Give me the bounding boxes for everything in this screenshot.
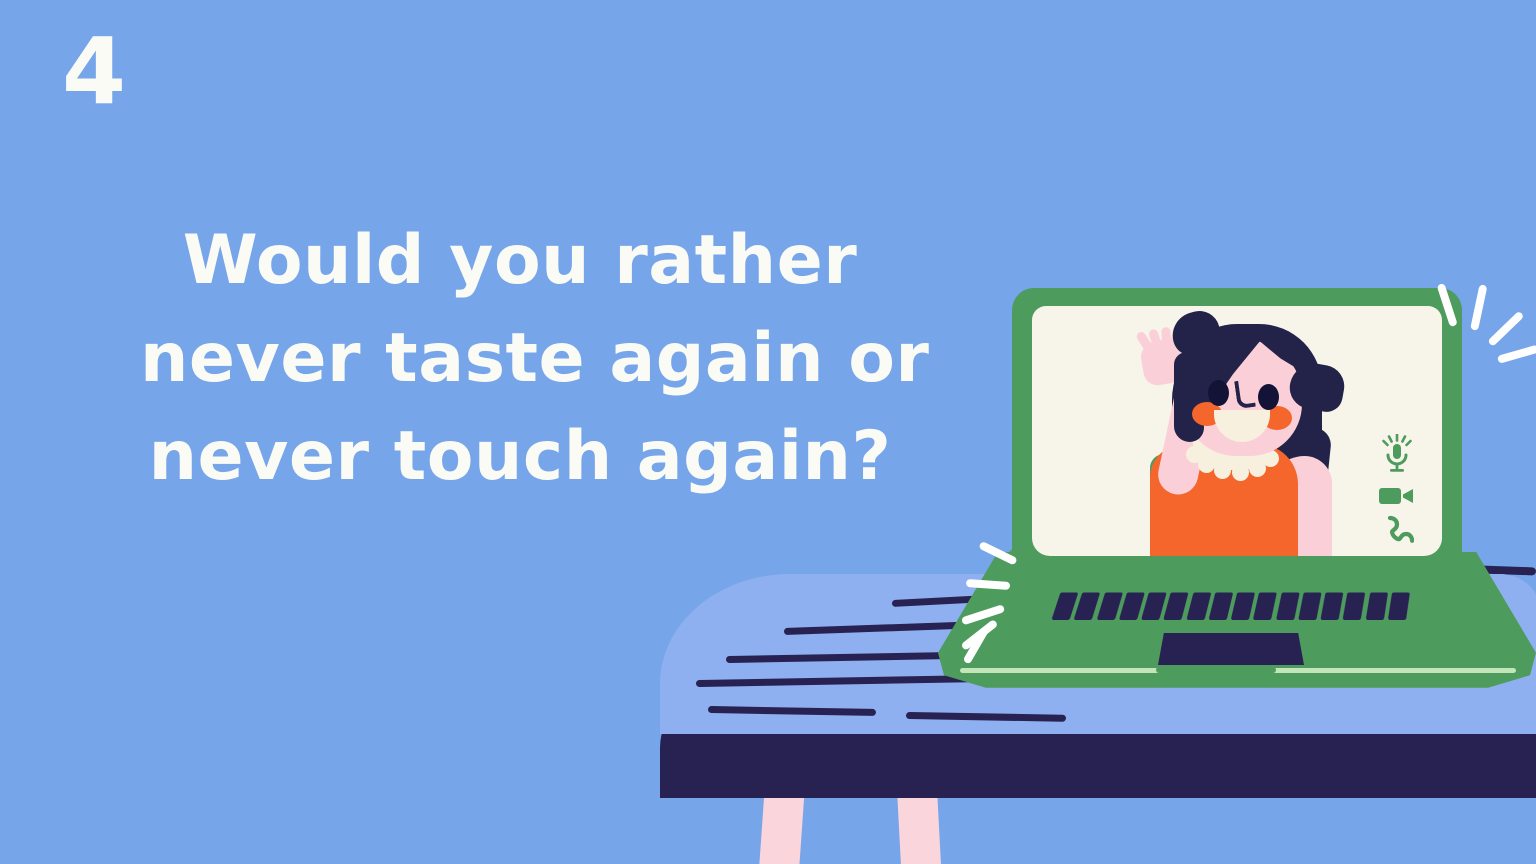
sparkle-top-right-icon — [1440, 270, 1530, 340]
keyboard-key[interactable] — [1186, 592, 1211, 619]
eye-right — [1258, 384, 1279, 410]
slide-number: 4 — [62, 26, 125, 118]
video-camera-icon[interactable] — [1377, 484, 1417, 508]
keyboard-key[interactable] — [1253, 592, 1277, 619]
sparkle-ray — [978, 541, 1017, 566]
keyboard-key[interactable] — [1208, 592, 1233, 619]
sparkle-ray — [1437, 283, 1458, 327]
laptop — [920, 240, 1536, 720]
microphone-icon[interactable] — [1377, 434, 1417, 478]
collar-bump — [1214, 462, 1231, 479]
question-line-3: never touch again? — [140, 408, 900, 506]
keyboard-key[interactable] — [1343, 592, 1366, 619]
keyboard-key[interactable] — [1320, 592, 1343, 619]
keyboard-key[interactable] — [1096, 592, 1122, 619]
table-grain-line — [708, 706, 876, 716]
question-line-1: Would you rather — [140, 212, 900, 310]
sparkle-ray — [1487, 311, 1524, 347]
keyboard-key[interactable] — [1119, 592, 1145, 619]
keyboard-key[interactable] — [1164, 592, 1190, 619]
laptop-trackpad[interactable] — [1158, 633, 1304, 665]
sparkle-ray — [966, 579, 1010, 590]
eye-left — [1208, 380, 1229, 406]
keyboard-key[interactable] — [1141, 592, 1167, 619]
sparkle-ray — [1470, 284, 1487, 331]
sparkle-ray — [1497, 345, 1536, 364]
laptop-keyboard[interactable] — [1055, 592, 1410, 619]
finger — [1161, 327, 1172, 350]
call-controls — [1374, 434, 1420, 548]
keyboard-key[interactable] — [1231, 592, 1256, 619]
question-text: Would you rather never taste again or ne… — [140, 212, 900, 506]
keyboard-key[interactable] — [1388, 592, 1410, 619]
slide-canvas: 4 Would you rather never taste again or … — [0, 0, 1536, 864]
laptop-screen — [1032, 306, 1442, 556]
collar-bump — [1232, 464, 1249, 481]
keyboard-key[interactable] — [1074, 592, 1101, 619]
laptop-base-highlight-gap — [1156, 667, 1276, 673]
phone-handset-icon[interactable] — [1380, 514, 1414, 548]
question-line-2: never taste again or — [140, 310, 900, 408]
collar-bump — [1198, 456, 1215, 473]
keyboard-key[interactable] — [1276, 592, 1300, 619]
keyboard-key[interactable] — [1365, 592, 1388, 619]
keyboard-key[interactable] — [1298, 592, 1322, 619]
sparkle-bottom-left-icon — [948, 526, 1038, 616]
